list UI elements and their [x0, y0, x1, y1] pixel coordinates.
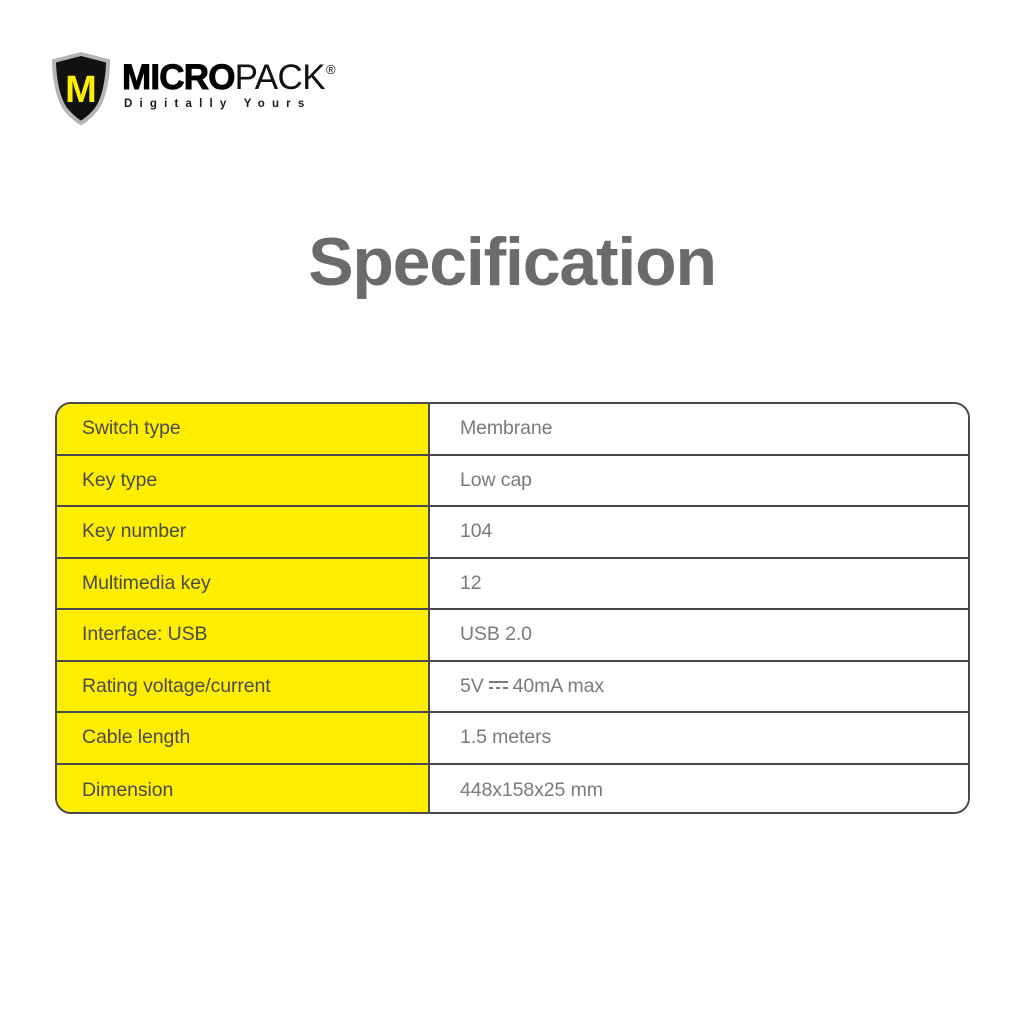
page-title: Specification [0, 228, 1024, 296]
spec-value: 1.5 meters [430, 713, 968, 763]
spec-value: 12 [430, 559, 968, 609]
spec-label: Multimedia key [57, 559, 430, 609]
brand-tagline: Digitally Yours [124, 98, 311, 110]
shield-logo-icon: M [50, 52, 112, 126]
table-row: Cable length 1.5 meters [57, 713, 968, 765]
table-row: Multimedia key 12 [57, 559, 968, 611]
spec-label: Interface: USB [57, 610, 430, 660]
wordmark-micro: MICRO [122, 58, 235, 97]
spec-label: Switch type [57, 404, 430, 454]
table-row: Switch type Membrane [57, 404, 968, 456]
spec-value: Membrane [430, 404, 968, 454]
spec-value: USB 2.0 [430, 610, 968, 660]
registered-trademark-icon: ® [326, 62, 336, 77]
spec-value: 104 [430, 507, 968, 557]
table-row: Key type Low cap [57, 456, 968, 508]
spec-label: Key number [57, 507, 430, 557]
wordmark-pack: PACK [235, 58, 325, 97]
table-row: Interface: USB USB 2.0 [57, 610, 968, 662]
spec-label: Rating voltage/current [57, 662, 430, 712]
dc-power-icon [489, 680, 508, 691]
current-value: 40mA max [513, 675, 604, 698]
table-row: Rating voltage/current 5V 40mA max [57, 662, 968, 714]
table-row: Key number 104 [57, 507, 968, 559]
spec-label: Key type [57, 456, 430, 506]
spec-label: Cable length [57, 713, 430, 763]
spec-value: Low cap [430, 456, 968, 506]
spec-label: Dimension [57, 765, 430, 815]
brand-wordmark: MICROPACK® [122, 58, 382, 98]
specification-table: Switch type Membrane Key type Low cap Ke… [55, 402, 970, 814]
brand-logo: M MICROPACK® Digitally Yours [50, 52, 380, 130]
voltage-value: 5V [460, 675, 484, 698]
spec-value: 448x158x25 mm [430, 765, 968, 815]
svg-text:M: M [65, 69, 97, 111]
spec-value: 5V 40mA max [430, 662, 968, 712]
table-row: Dimension 448x158x25 mm [57, 765, 968, 815]
